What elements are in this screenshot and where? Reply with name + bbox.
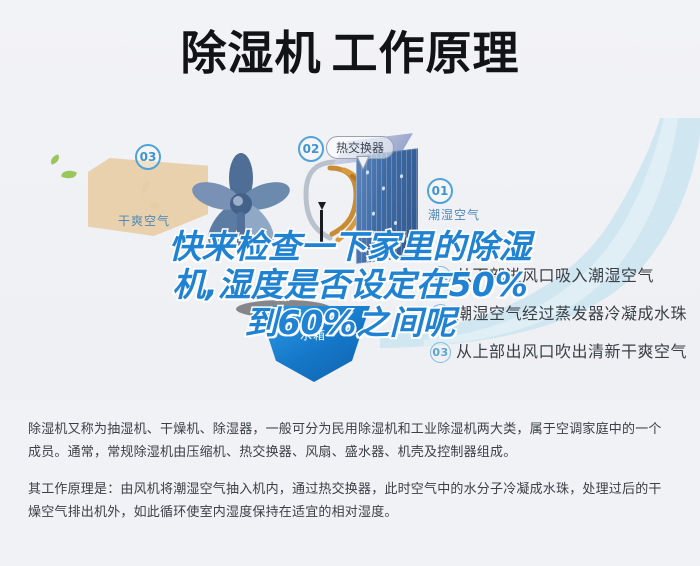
annotation-line-01: 01从下部进风口吸入潮湿空气 [430,262,654,287]
dehumidifier-diagram: 干爽空气 03 [0,130,700,400]
annotation-line-02: 02潮湿空气经过蒸发器冷凝成水珠 [430,300,687,325]
dry-air-label: 干爽空气 [118,212,170,229]
page-title: 除湿机工作原理 [0,28,700,79]
badge-03: 03 [135,144,161,170]
title-part-1: 除湿机 [181,26,322,80]
body-paragraph-1: 除湿机又称为抽湿机、干燥机、除湿器，一般可分为民用除湿机和工业除湿机两大类，属于… [28,418,672,464]
wet-air-label: 潮湿空气 [428,206,480,223]
callout-tail-icon [356,156,370,170]
annotation-text: 从上部出风口吹出清新干爽空气 [456,342,687,361]
leaf-icon [61,168,77,181]
water-tank-label: 水箱 [300,326,326,343]
leaf-icon [49,154,61,165]
annotation-number: 03 [430,342,451,363]
title-part-2: 工作原理 [332,26,520,80]
annotation-text: 潮湿空气经过蒸发器冷凝成水珠 [456,304,687,323]
annotation-number: 01 [430,266,451,287]
water-tank [258,306,370,382]
body-paragraph-2: 其工作原理是：由风机将潮湿空气抽入机内，通过热交换器，此时空气中的水分子冷凝成水… [28,478,672,524]
hero-infographic: 除湿机工作原理 干爽空气 03 [0,0,700,400]
article-body: 除湿机又称为抽湿机、干燥机、除湿器，一般可分为民用除湿机和工业除湿机两大类，属于… [0,400,700,566]
fan-graphic [185,152,303,248]
annotation-number: 02 [430,304,451,325]
annotation-text: 从下部进风口吸入潮湿空气 [456,266,654,285]
annotation-line-03: 03从上部出风口吹出清新干爽空气 [430,338,687,363]
fan-svg [185,152,303,248]
badge-01: 01 [427,178,453,204]
infographic-page: 除湿机工作原理 干爽空气 03 [0,0,700,566]
badge-02: 02 [298,136,324,162]
